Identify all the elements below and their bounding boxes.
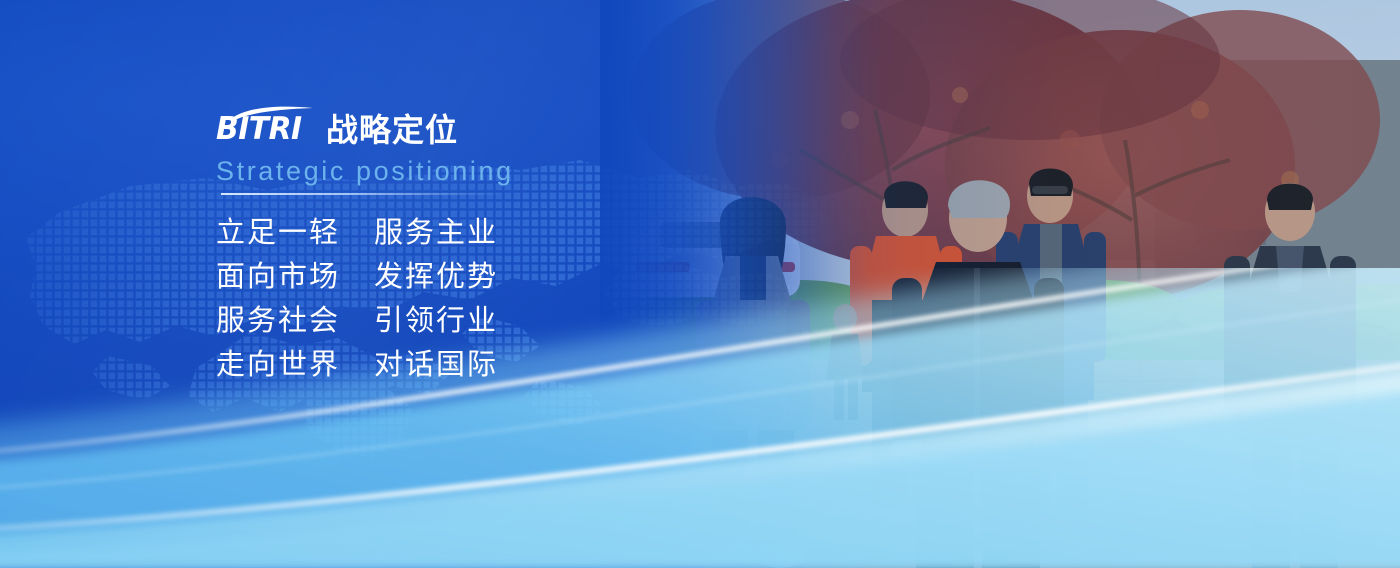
page-title: 战略定位 [326, 114, 458, 148]
bitri-logo-text: BITRI [216, 114, 302, 145]
slogan-left: 面向市场 [216, 263, 340, 292]
slogan-left: 立足一轻 [216, 219, 340, 248]
slogan-right: 引领行业 [374, 307, 498, 336]
slogan-line: 服务社会 引领行业 [216, 307, 776, 336]
slogan-line: 走向世界 对话国际 [216, 351, 776, 380]
title-divider [221, 193, 507, 195]
slogan-right: 对话国际 [374, 351, 498, 380]
bitri-logo: BITRI [216, 106, 312, 148]
slogan-line: 立足一轻 服务主业 [216, 219, 776, 248]
slogan-right: 服务主业 [374, 219, 498, 248]
slogan-left: 服务社会 [216, 307, 340, 336]
slogan-right: 发挥优势 [374, 263, 498, 292]
page-subtitle: Strategic positioning [216, 157, 776, 185]
slogan-list: 立足一轻 服务主业 面向市场 发挥优势 服务社会 引领行业 走向世界 对话国际 [216, 219, 776, 380]
banner-content: BITRI 战略定位 Strategic positioning 立足一轻 服务… [216, 104, 776, 380]
brand-title-row: BITRI 战略定位 [216, 104, 776, 148]
hero-banner: BITRI 战略定位 Strategic positioning 立足一轻 服务… [0, 0, 1400, 568]
slogan-left: 走向世界 [216, 351, 340, 380]
slogan-line: 面向市场 发挥优势 [216, 263, 776, 292]
